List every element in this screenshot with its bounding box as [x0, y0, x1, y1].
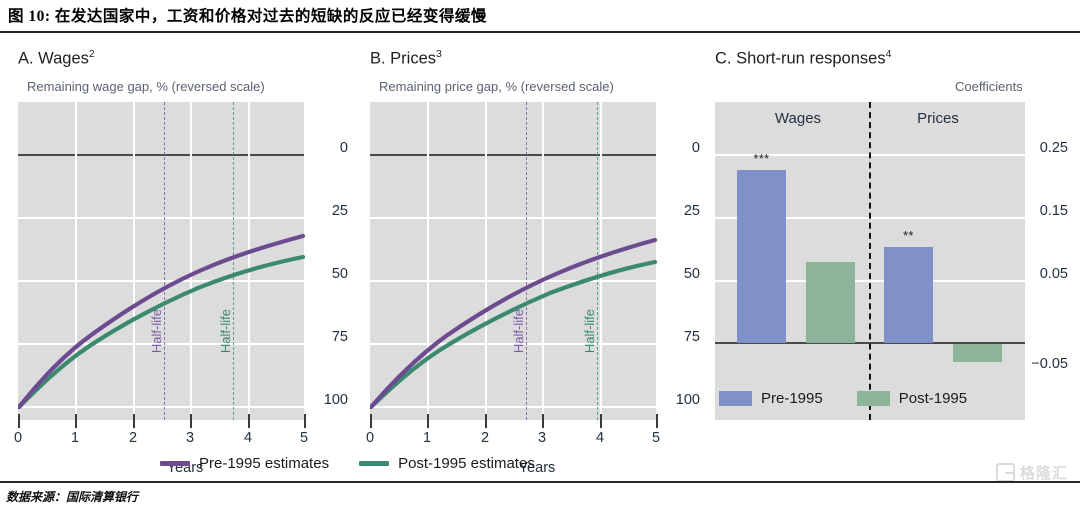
panel-short-run-responses: C. Short-run responses4 Coefficients Wag…	[705, 40, 1080, 440]
panel-b-xtick-5: 5	[641, 430, 671, 446]
panel-a-title: A. Wages2	[18, 48, 95, 69]
source-note: 数据来源：国际清算银行	[6, 488, 138, 505]
footer-rule	[0, 481, 1080, 483]
panel-a-curve-post-1995	[19, 257, 303, 407]
panel-a-curve-pre-1995	[19, 236, 303, 407]
panel-b-tick-0	[370, 414, 372, 428]
panel-b-curves	[370, 102, 657, 420]
panel-c-bar-prices-pre-1995	[884, 247, 933, 343]
panel-a-tick-0	[18, 414, 20, 428]
panel-b-axis-note: Remaining price gap, % (reversed scale)	[379, 79, 614, 94]
panel-a-xtick-3: 3	[175, 430, 205, 446]
panel-c-title-text: C. Short-run responses	[715, 50, 886, 68]
main-legend-item-pre-1995: Pre-1995 estimates	[160, 455, 329, 472]
panel-a-xtick-2: 2	[118, 430, 148, 446]
panel-prices: B. Prices3 Remaining price gap, % (rever…	[352, 40, 712, 440]
panel-b-title-text: B. Prices	[370, 50, 436, 68]
panel-a-tick-3	[190, 414, 192, 428]
panel-a-ytick-25: 25	[288, 203, 348, 219]
watermark: 格隆汇	[996, 462, 1068, 483]
panel-a-xtick-4: 4	[233, 430, 263, 446]
panel-wages: A. Wages2 Remaining wage gap, % (reverse…	[0, 40, 360, 440]
panel-c-group-label-prices: Prices	[883, 110, 993, 127]
panel-b-ytick-50: 50	[640, 266, 700, 282]
panel-b-ytick-75: 75	[640, 329, 700, 345]
panel-b-ytick-0: 0	[640, 140, 700, 156]
panel-c-ytick-n005: −0.05	[960, 356, 1068, 372]
panel-b-title: B. Prices3	[370, 48, 442, 69]
panel-c-group-label-wages: Wages	[743, 110, 853, 127]
panel-c-axis-note: Coefficients	[955, 79, 1023, 94]
panel-c-legend-label-post-1995: Post-1995	[899, 390, 967, 407]
panel-a-plot-area: Half-life Half-life	[18, 102, 305, 420]
panel-a-ytick-75: 75	[288, 329, 348, 345]
panel-c-legend: Pre-1995 Post-1995	[719, 390, 967, 407]
panel-a-xtick-1: 1	[60, 430, 90, 446]
panel-c-group-divider	[869, 102, 871, 420]
panel-a-xtick-5: 5	[289, 430, 319, 446]
panel-a-tick-1	[75, 414, 77, 428]
panel-a-curves	[18, 102, 305, 420]
panel-c-ytick-025: 0.25	[960, 140, 1068, 156]
panel-c-legend-item-pre-1995: Pre-1995	[719, 390, 823, 407]
main-legend-label-post-1995: Post-1995 estimates	[398, 455, 535, 472]
watermark-text: 格隆汇	[1020, 462, 1068, 483]
panel-c-legend-swatch-post-1995	[857, 391, 890, 406]
panel-a-ytick-0: 0	[288, 140, 348, 156]
panel-c-sig-wages-pre-1995: ***	[737, 152, 786, 166]
panel-b-plot-area: Half-life Half-life	[370, 102, 657, 420]
main-legend-swatch-pre-1995	[160, 461, 190, 466]
panel-a-axis-note: Remaining wage gap, % (reversed scale)	[27, 79, 265, 94]
panel-b-xtick-1: 1	[412, 430, 442, 446]
panel-a-tick-5	[304, 414, 306, 428]
panel-a-title-text: A. Wages	[18, 50, 89, 68]
panel-b-tick-3	[542, 414, 544, 428]
panel-b-curve-post-1995	[371, 262, 655, 407]
panel-b-tick-5	[656, 414, 658, 428]
panel-b-xtick-4: 4	[585, 430, 615, 446]
panel-b-xtick-2: 2	[470, 430, 500, 446]
panel-a-xtick-0: 0	[3, 430, 33, 446]
panel-b-title-footnote: 3	[436, 48, 442, 60]
panel-c-legend-label-pre-1995: Pre-1995	[761, 390, 823, 407]
panel-b-tick-2	[485, 414, 487, 428]
panel-c-title-footnote: 4	[886, 48, 892, 60]
panel-c-ytick-005: 0.05	[960, 266, 1068, 282]
panel-b-curve-pre-1995	[371, 240, 655, 407]
panel-b-ytick-25: 25	[640, 203, 700, 219]
panel-a-title-footnote: 2	[89, 48, 95, 60]
title-rule	[0, 31, 1080, 33]
panel-a-ytick-50: 50	[288, 266, 348, 282]
main-legend: Pre-1995 estimates Post-1995 estimates	[160, 455, 535, 472]
panel-c-legend-swatch-pre-1995	[719, 391, 752, 406]
panel-c-legend-item-post-1995: Post-1995	[857, 390, 967, 407]
panel-c-title: C. Short-run responses4	[715, 48, 891, 69]
main-legend-item-post-1995: Post-1995 estimates	[359, 455, 535, 472]
panel-a-tick-2	[133, 414, 135, 428]
panel-a-ytick-100: 100	[288, 392, 348, 408]
panel-b-tick-4	[600, 414, 602, 428]
panel-c-sig-prices-pre-1995: **	[884, 229, 933, 243]
panel-c-ytick-015: 0.15	[960, 203, 1068, 219]
panel-b-xtick-3: 3	[527, 430, 557, 446]
panel-b-tick-1	[427, 414, 429, 428]
main-legend-swatch-post-1995	[359, 461, 389, 466]
panel-c-bar-wages-pre-1995	[737, 170, 786, 343]
panel-a-tick-4	[248, 414, 250, 428]
watermark-logo-icon	[996, 463, 1015, 482]
panel-c-bar-wages-post-1995	[806, 262, 855, 343]
panel-b-xtick-0: 0	[355, 430, 385, 446]
main-legend-label-pre-1995: Pre-1995 estimates	[199, 455, 329, 472]
figure-title: 图 10: 在发达国家中，工资和价格对过去的短缺的反应已经变得缓慢	[8, 4, 1072, 26]
panel-b-ytick-100: 100	[640, 392, 700, 408]
